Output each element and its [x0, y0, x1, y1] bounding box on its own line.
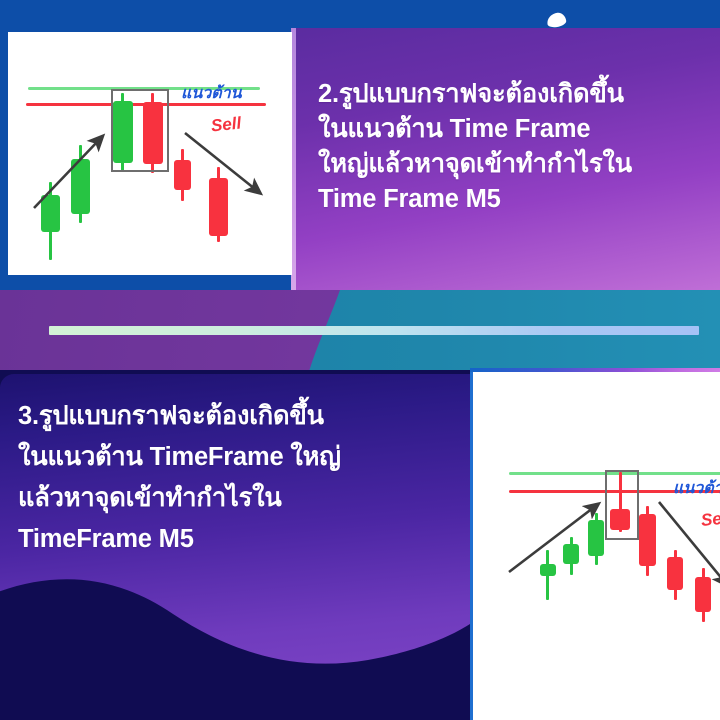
slide-2-text: 2.รูปแบบกราฟจะต้องเกิดขึ้น ในแนวต้าน Tim… [318, 77, 718, 217]
resistance-annotation-label: แนวต้าน [181, 81, 242, 106]
divider-accent-line [49, 326, 699, 335]
bottom-candlestick-chart: แนวต้า Se [473, 372, 720, 720]
up-trend-arrow [34, 141, 98, 208]
sell-annotation-label: Sell [210, 113, 242, 136]
top-blue-band [0, 0, 720, 29]
trend-arrows [8, 32, 292, 275]
top-chart-card: แนวต้าน Sell [8, 32, 292, 275]
down-trend-arrow [185, 133, 255, 189]
resistance-annotation-label: แนวต้า [673, 476, 720, 501]
decorative-wave-shape [0, 554, 472, 720]
trend-arrows [473, 372, 720, 720]
slide-3-text: 3.รูปแบบกราฟจะต้องเกิดขึ้น ในแนวต้าน Tim… [18, 396, 458, 560]
top-slide-panel: แนวต้าน Sell 2.รูปแบบกราฟจะต้องเกิดขึ้น … [0, 0, 720, 300]
slide-canvas: แนวต้าน Sell 2.รูปแบบกราฟจะต้องเกิดขึ้น … [0, 0, 720, 720]
top-candlestick-chart: แนวต้าน Sell [8, 32, 292, 275]
bottom-chart-card: แนวต้า Se [470, 372, 720, 720]
sell-annotation-label: Se [700, 509, 720, 531]
divider-band [0, 290, 720, 375]
up-trend-arrow [509, 508, 593, 572]
